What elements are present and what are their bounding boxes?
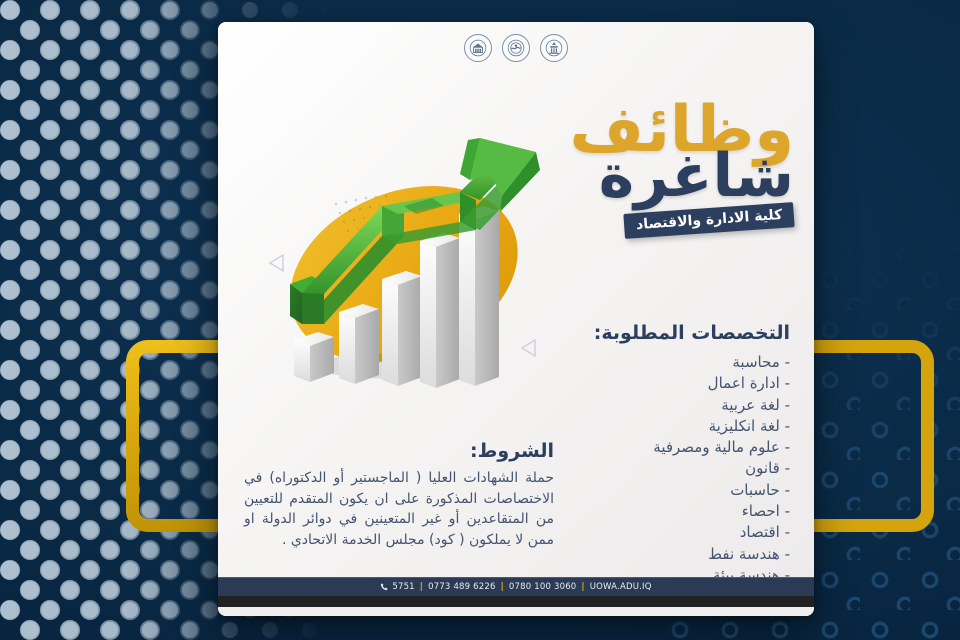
list-item: - قانون	[540, 458, 790, 479]
footer-white-strip	[218, 607, 814, 616]
headline-block: وظائف شاغرة كلية الادارة والاقتصاد	[570, 100, 794, 233]
logo-row	[218, 34, 814, 62]
footer-separator: |	[420, 582, 423, 592]
university-seal-logo	[502, 34, 530, 62]
conditions-body: حملة الشهادات العليا ( الماجستير أو الدك…	[244, 468, 554, 551]
ministry-seal-logo	[540, 34, 568, 62]
footer-contact-3: 0780 100 3060	[509, 582, 577, 592]
phone-icon	[380, 583, 388, 591]
background-pattern-left-dense	[0, 0, 230, 640]
headline-line-2: شاغرة	[570, 149, 794, 204]
conditions-heading: الشروط:	[244, 440, 554, 462]
footer-contact-2: 0773 489 6226	[428, 582, 496, 592]
footer-contact-1: 5751	[392, 582, 414, 592]
growth-chart-graphic	[254, 134, 554, 394]
list-item: - لغة انكليزية	[540, 416, 790, 437]
list-item: - هندسة نفط	[540, 544, 790, 565]
list-item: - محاسبة	[540, 352, 790, 373]
list-item: - اقتصاد	[540, 522, 790, 543]
conditions-section: الشروط: حملة الشهادات العليا ( الماجستير…	[244, 440, 554, 551]
footer-separator: |	[501, 582, 504, 592]
poster-card: وظائف شاغرة كلية الادارة والاقتصاد التخص…	[218, 22, 814, 616]
footer-contact-bar: 5751 | 0773 489 6226 | 0780 100 3060 | U…	[218, 577, 814, 596]
specializations-list: - محاسبة - ادارة اعمال - لغة عربية - لغة…	[540, 352, 790, 586]
list-item: - حاسبات	[540, 480, 790, 501]
list-item: - لغة عربية	[540, 395, 790, 416]
footer-separator: |	[581, 582, 584, 592]
list-item: - احصاء	[540, 501, 790, 522]
footer-website: UOWA.ADU.IQ	[590, 582, 652, 592]
footer-dark-strip	[218, 596, 814, 607]
college-seal-logo	[464, 34, 492, 62]
list-item: - علوم مالية ومصرفية	[540, 437, 790, 458]
specializations-section: التخصصات المطلوبة: - محاسبة - ادارة اعما…	[540, 322, 790, 586]
specializations-heading: التخصصات المطلوبة:	[540, 322, 790, 344]
list-item: - ادارة اعمال	[540, 373, 790, 394]
